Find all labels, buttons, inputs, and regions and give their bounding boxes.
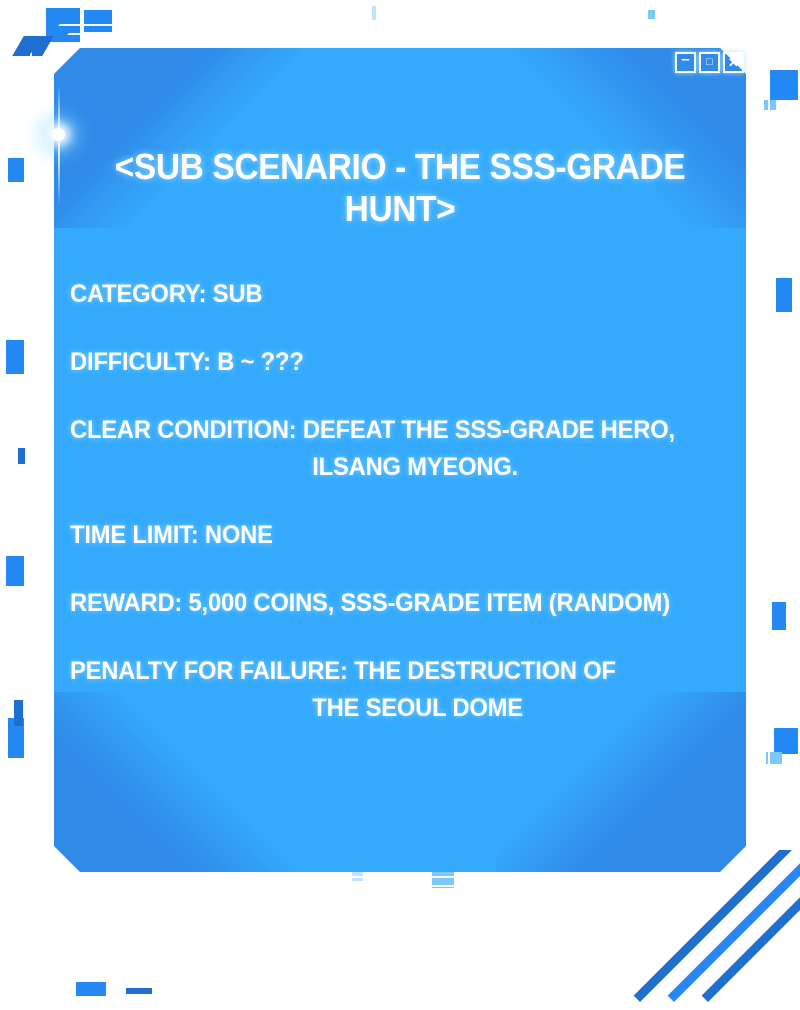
- minimize-button[interactable]: –: [675, 52, 696, 73]
- accent-block-left-a: [8, 158, 24, 182]
- accent-block-right-e: [774, 728, 798, 754]
- stat-row-penalty: PENALTY FOR FAILURE: THE DESTRUCTION OF …: [70, 653, 746, 727]
- accent-block-footer-a: [76, 982, 106, 996]
- accent-block-left-d: [6, 556, 24, 586]
- stat-row-reward: REWARD: 5,000 COINS, SSS-GRADE ITEM (RAN…: [70, 585, 746, 622]
- stat-line: THE SEOUL DOME: [70, 690, 712, 727]
- maximize-icon: □: [706, 57, 713, 68]
- accent-block-left-c: [18, 448, 25, 464]
- accent-block-top-mid: [372, 6, 376, 20]
- minimize-icon: –: [681, 52, 689, 67]
- stat-row-time-limit: TIME LIMIT: NONE: [70, 517, 746, 554]
- scenario-window: – □ ✕ <SUB SCENARIO - THE SSS-GRADE HUNT…: [30, 24, 770, 896]
- scenario-title: <SUB SCENARIO - THE SSS-GRADE HUNT>: [56, 146, 744, 230]
- window-controls: – □ ✕: [675, 52, 744, 73]
- scenario-stat-list: CATEGORY: SUB DIFFICULTY: B ~ ??? CLEAR …: [70, 276, 746, 758]
- stat-line: CATEGORY: SUB: [70, 276, 712, 313]
- close-icon: ✕: [728, 56, 739, 69]
- maximize-button[interactable]: □: [699, 52, 720, 73]
- stat-row-clear-condition: CLEAR CONDITION: DEFEAT THE SSS-GRADE HE…: [70, 412, 746, 486]
- stat-row-category: CATEGORY: SUB: [70, 276, 746, 313]
- accent-block-left-b: [6, 340, 24, 374]
- stat-line: TIME LIMIT: NONE: [70, 517, 712, 554]
- stat-line: ILSANG MYEONG.: [70, 449, 712, 486]
- stat-line: DIFFICULTY: B ~ ???: [70, 344, 712, 381]
- stat-line: CLEAR CONDITION: DEFEAT THE SSS-GRADE HE…: [70, 412, 712, 449]
- stat-row-difficulty: DIFFICULTY: B ~ ???: [70, 344, 746, 381]
- accent-block-footer-b: [126, 988, 152, 994]
- accent-block-right-a: [770, 70, 798, 100]
- accent-block-top-right-a: [648, 10, 655, 19]
- accent-block-left-f: [14, 700, 23, 726]
- close-button[interactable]: ✕: [723, 52, 744, 73]
- accent-block-right-c: [776, 278, 792, 312]
- stat-line: REWARD: 5,000 COINS, SSS-GRADE ITEM (RAN…: [70, 585, 712, 622]
- stat-line: PENALTY FOR FAILURE: THE DESTRUCTION OF: [70, 653, 712, 690]
- scenario-content: <SUB SCENARIO - THE SSS-GRADE HUNT> CATE…: [30, 24, 770, 896]
- accent-block-right-d: [772, 602, 786, 630]
